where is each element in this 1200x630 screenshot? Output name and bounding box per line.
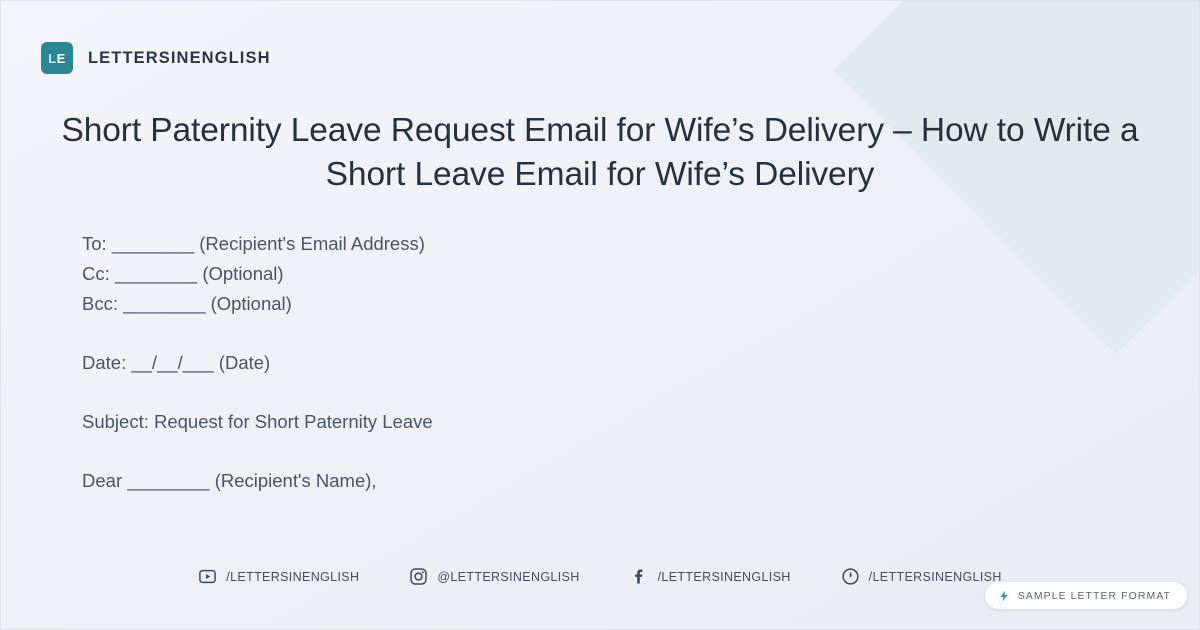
date-block: Date: __/__/___ (Date) [82,348,1139,378]
cc-line: Cc: ________ (Optional) [82,259,1139,289]
page-title: Short Paternity Leave Request Email for … [61,109,1139,196]
date-line: Date: __/__/___ (Date) [82,348,1139,378]
sample-letter-format-label: SAMPLE LETTER FORMAT [1018,590,1171,602]
social-link-instagram[interactable]: @LETTERSINENGLISH [409,567,579,586]
social-link-youtube[interactable]: /LETTERSINENGLISH [198,567,359,586]
brand-monogram-second-letter: E [57,51,66,66]
social-handle-pinterest: /LETTERSINENGLISH [869,570,1002,584]
brand-monogram-badge: LE [41,42,73,74]
social-link-pinterest[interactable]: /LETTERSINENGLISH [841,567,1002,586]
salutation-block: Dear ________ (Recipient's Name), [82,466,1139,496]
bcc-line: Bcc: ________ (Optional) [82,289,1139,319]
instagram-icon [409,567,428,586]
poster-canvas: LE LETTERSINENGLISH Short Paternity Leav… [0,0,1200,630]
social-handle-instagram: @LETTERSINENGLISH [437,570,579,584]
lightning-bolt-icon [998,589,1010,603]
brand-monogram-first-letter: L [48,51,56,66]
pinterest-icon [841,567,860,586]
social-handle-youtube: /LETTERSINENGLISH [226,570,359,584]
subject-block: Subject: Request for Short Paternity Lea… [82,407,1139,437]
sample-letter-format-badge[interactable]: SAMPLE LETTER FORMAT [985,582,1187,609]
salutation-line: Dear ________ (Recipient's Name), [82,466,1139,496]
recipient-block: To: ________ (Recipient's Email Address)… [82,229,1139,319]
brand-name-text: LETTERSINENGLISH [88,49,271,68]
youtube-icon [198,567,217,586]
social-link-facebook[interactable]: /LETTERSINENGLISH [630,567,791,586]
brand-logo[interactable]: LE LETTERSINENGLISH [41,42,271,74]
to-line: To: ________ (Recipient's Email Address) [82,229,1139,259]
subject-line: Subject: Request for Short Paternity Lea… [82,407,1139,437]
facebook-icon [630,567,649,586]
social-handle-facebook: /LETTERSINENGLISH [658,570,791,584]
letter-body: To: ________ (Recipient's Email Address)… [82,229,1139,496]
